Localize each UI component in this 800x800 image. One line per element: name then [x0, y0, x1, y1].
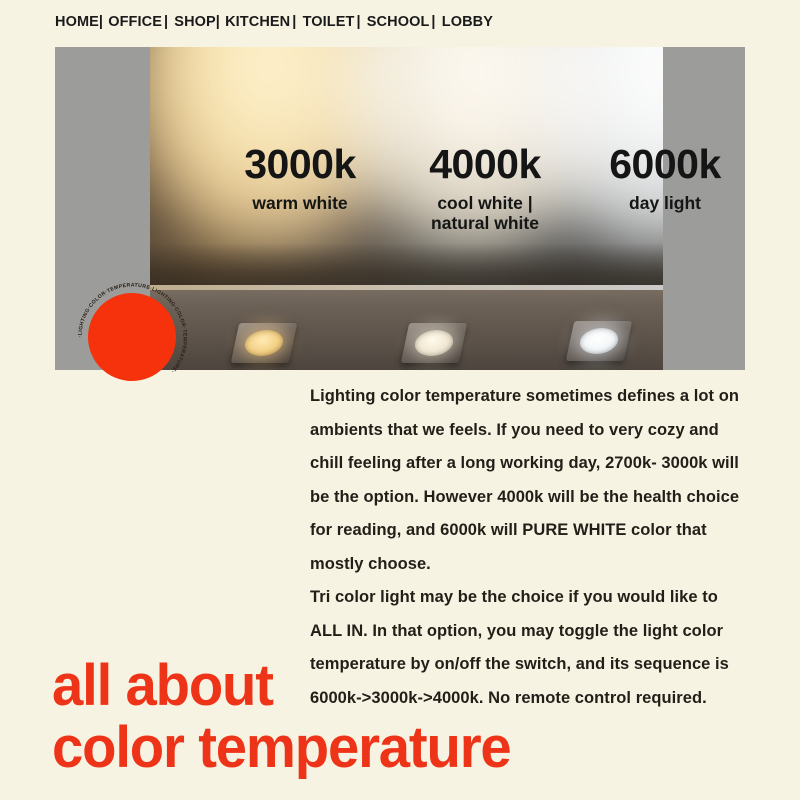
photo-scene [150, 47, 663, 370]
nav-item-school[interactable]: SCHOOL [367, 14, 430, 30]
nav-list: HOME| OFFICE| SHOP| KITCHEN| TOILET| SCH… [55, 14, 493, 30]
nav-item-lobby[interactable]: LOBBY [442, 14, 493, 30]
downlight-fixture-6000k [566, 321, 633, 361]
nav-item-home[interactable]: HOME [55, 14, 99, 30]
nav-item-kitchen[interactable]: KITCHEN [225, 14, 290, 30]
body-paragraph-1: Lighting color temperature sometimes def… [310, 380, 750, 581]
nav-item-shop[interactable]: SHOP [174, 14, 216, 30]
nav-item-office[interactable]: OFFICE [108, 14, 162, 30]
nav-separator: | [429, 14, 437, 30]
ceiling-plane [150, 285, 663, 370]
photo-right-border [663, 47, 745, 370]
stamp-red-dot [88, 293, 176, 381]
page-title-line-1: all about [52, 655, 731, 717]
nav-separator: | [354, 14, 362, 30]
page-title-line-2: color temperature [52, 717, 731, 779]
red-circle-stamp: ·LIGHTING·COLOR·TEMPERATURE·LIGHTING·COL… [75, 280, 190, 395]
nav-separator: | [162, 14, 170, 30]
page-title: all about color temperature [52, 655, 731, 779]
downlight-fixture-4000k [401, 323, 468, 363]
downlight-fixture-3000k [231, 323, 298, 363]
nav-separator: | [290, 14, 298, 30]
nav-item-toilet[interactable]: TOILET [303, 14, 355, 30]
main-navigation: HOME| OFFICE| SHOP| KITCHEN| TOILET| SCH… [55, 8, 755, 36]
